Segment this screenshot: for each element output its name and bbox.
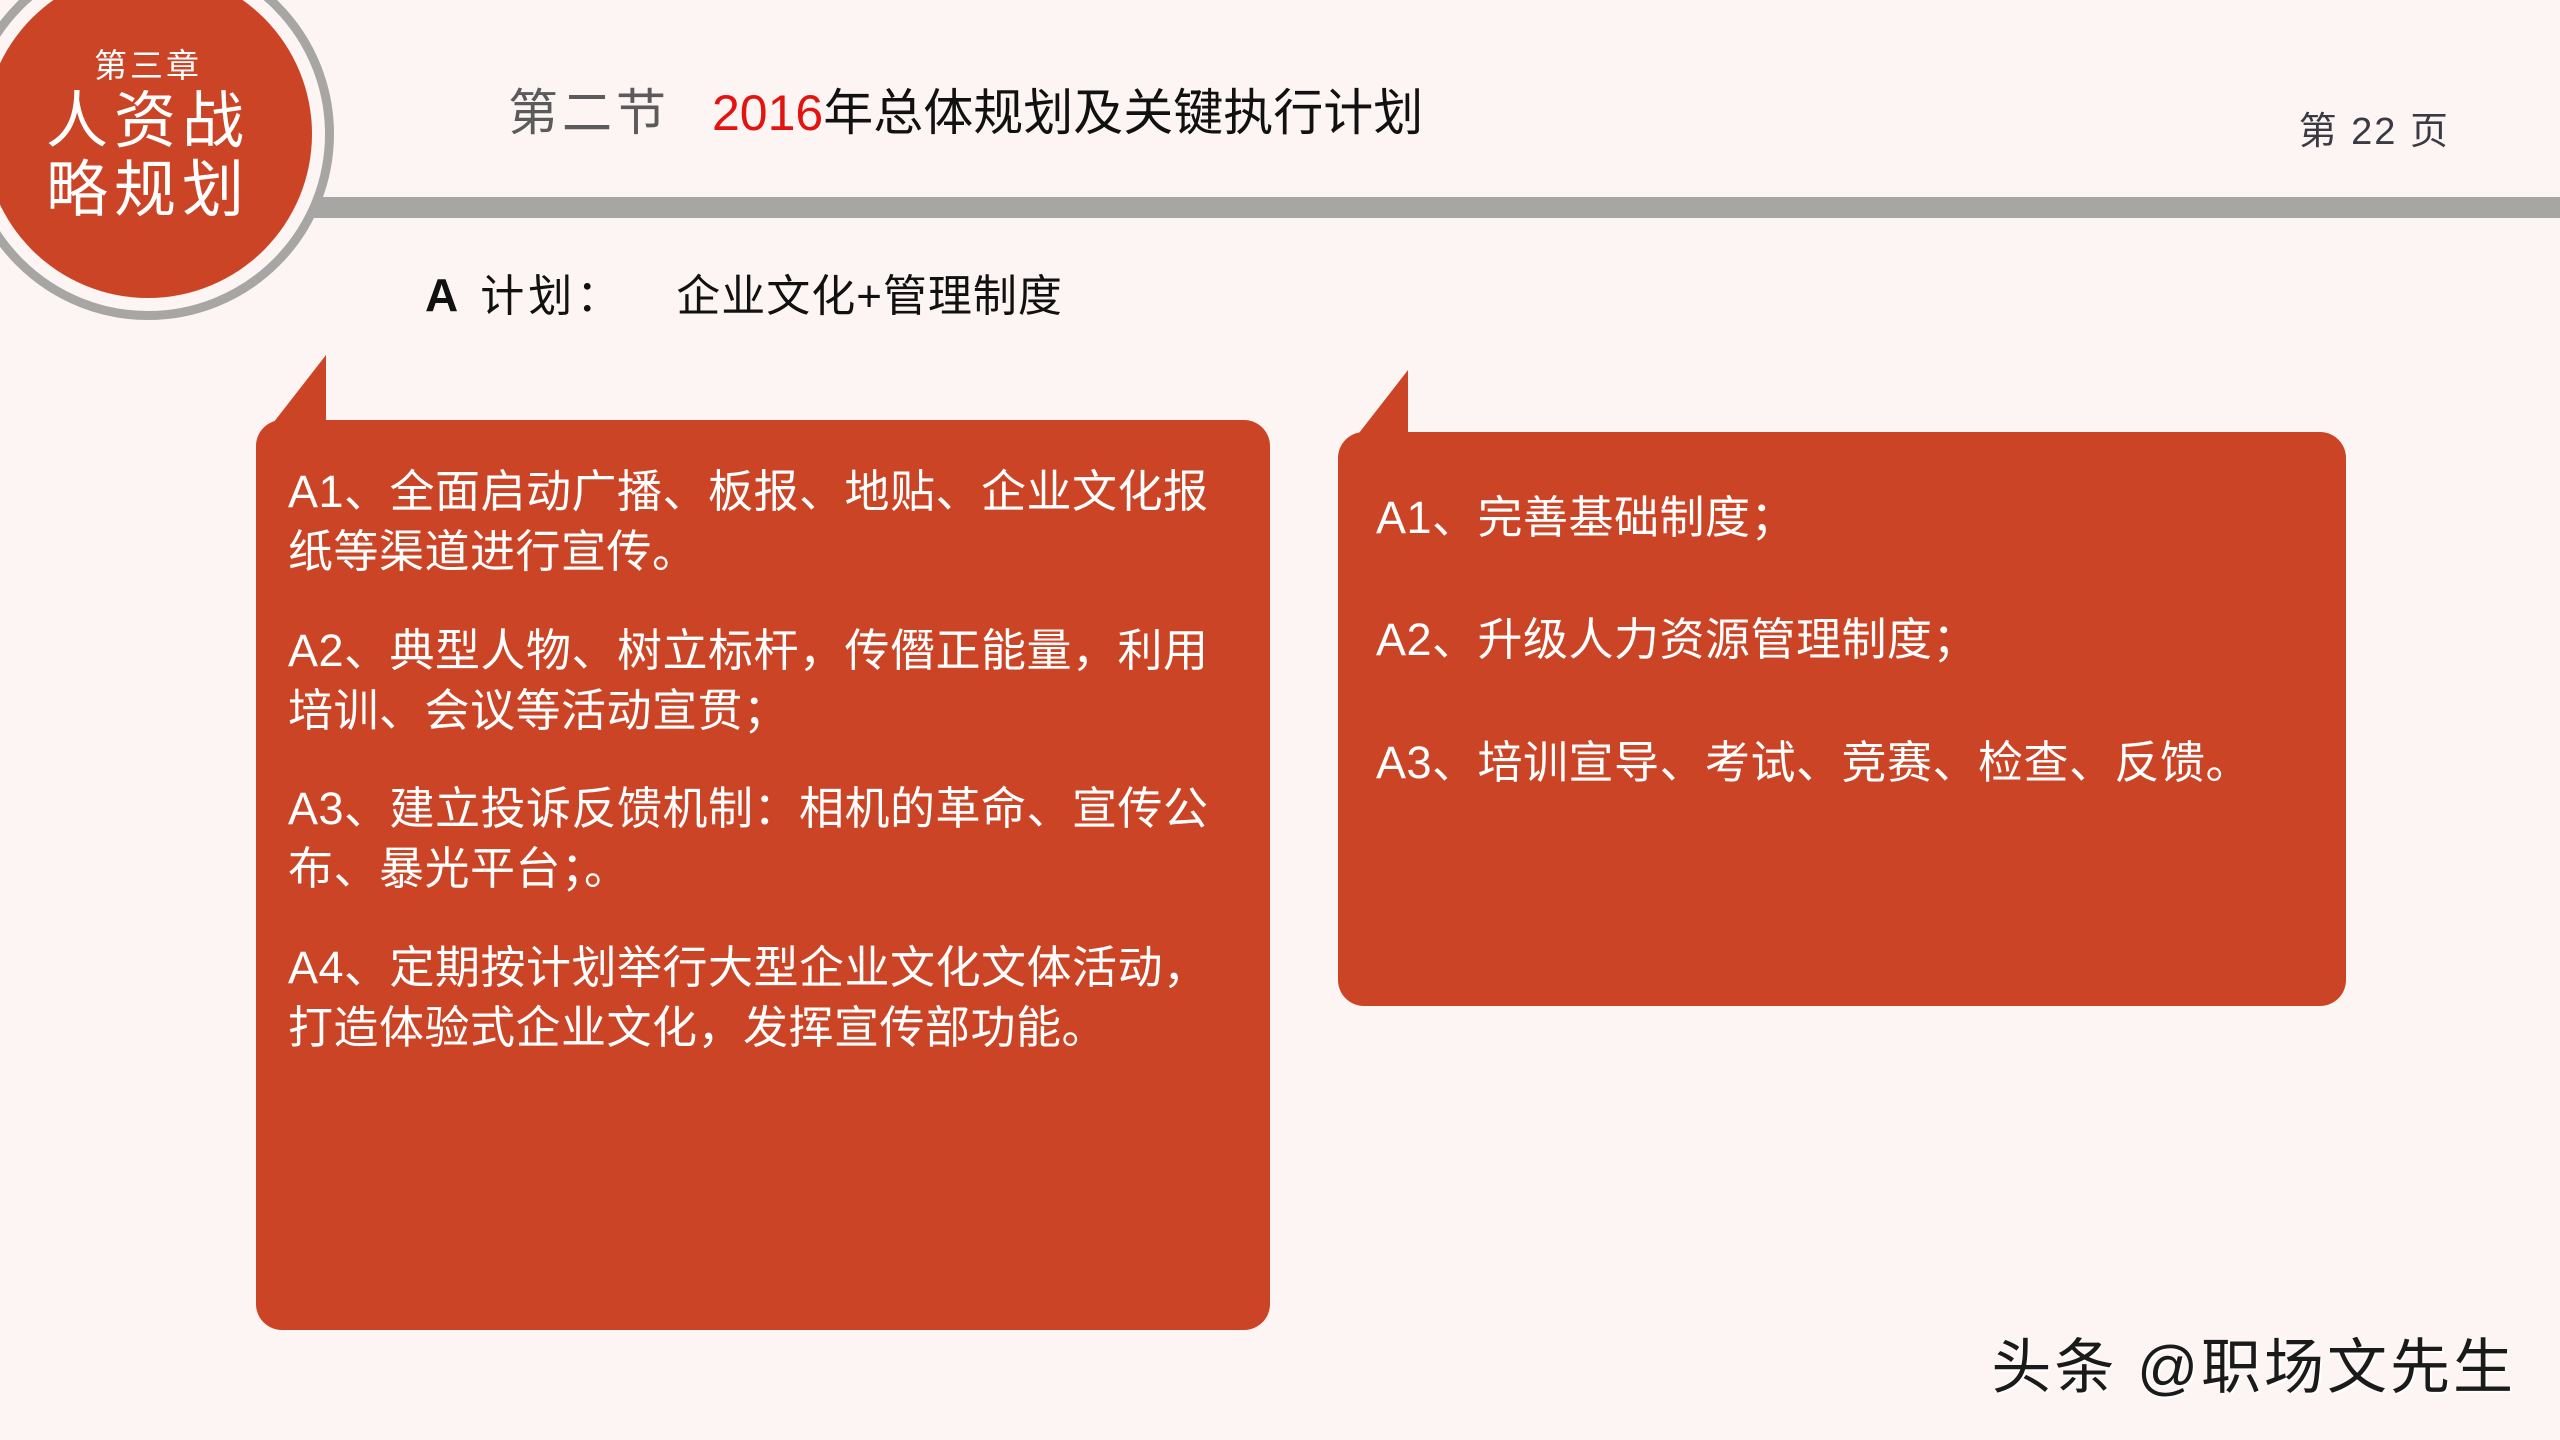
chapter-badge: 第三章 人资战 略规划: [0, 0, 362, 348]
callout-right-item-a3: A3、培训宣导、考试、竞赛、检查、反馈。: [1376, 733, 2306, 793]
plan-word: 计划：: [480, 272, 624, 321]
callout-box-culture-plan: A1、全面启动广播、板报、地贴、企业文化报纸等渠道进行宣传。 A2、典型人物、树…: [256, 420, 1270, 1330]
callout-left-item-a1: A1、全面启动广播、板报、地贴、企业文化报纸等渠道进行宣传。: [288, 462, 1234, 583]
callout-left-item-a2: A2、典型人物、树立标杆，传僭正能量，利用培训、会议等活动宣贯；: [288, 621, 1234, 742]
chapter-badge-title-line-2: 略规划: [46, 157, 250, 225]
callout-right-body: A1、完善基础制度； A2、升级人力资源管理制度； A3、培训宣导、考试、竞赛、…: [1338, 432, 2346, 833]
callout-tail-left: [270, 355, 326, 427]
header-section-label: 第二节: [508, 85, 670, 141]
callout-right-item-a2: A2、升级人力资源管理制度；: [1376, 610, 2306, 670]
callout-right-item-a1: A1、完善基础制度；: [1376, 488, 2306, 548]
plan-body: 企业文化+管理制度: [676, 272, 1063, 321]
slide-root: 第三章 人资战 略规划 第二节2016年总体规划及关键执行计划 第 22 页 A…: [0, 0, 2560, 1440]
callout-left-item-a3: A3、建立投诉反馈机制：相机的革命、宣传公布、暴光平台；。: [288, 779, 1234, 900]
chapter-badge-text: 第三章 人资战 略规划: [0, 0, 312, 298]
callout-box-system-plan: A1、完善基础制度； A2、升级人力资源管理制度； A3、培训宣导、考试、竞赛、…: [1338, 432, 2346, 1006]
watermark: 头条 @职场文先生: [1991, 1319, 2516, 1406]
header-title-rest: 年总体规划及关键执行计划: [823, 85, 1423, 141]
page-title: 第二节2016年总体规划及关键执行计划: [508, 88, 1423, 138]
callout-left-item-a4: A4、定期按计划举行大型企业文化文体活动，打造体验式企业文化，发挥宣传部功能。: [288, 938, 1234, 1059]
plan-letter: A: [425, 269, 458, 321]
chapter-badge-kicker: 第三章: [94, 49, 202, 82]
page-number: 第 22 页: [2299, 100, 2450, 155]
header-divider-bar: [0, 197, 2560, 218]
chapter-badge-title-line-1: 人资战: [46, 88, 250, 156]
header-year: 2016: [712, 85, 823, 141]
plan-subtitle: A计划：企业文化+管理制度: [425, 272, 1063, 319]
callout-left-body: A1、全面启动广播、板报、地贴、企业文化报纸等渠道进行宣传。 A2、典型人物、树…: [256, 420, 1270, 1092]
chapter-badge-title: 人资战 略规划: [46, 88, 250, 224]
